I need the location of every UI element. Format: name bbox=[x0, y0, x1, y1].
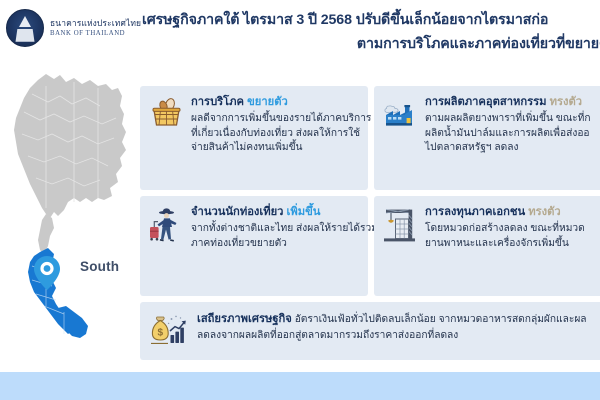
shopping-basket-icon bbox=[148, 95, 184, 182]
card-investment-line-2: ยานพาหนะและเครื่องจักรเพิ่มขึ้น bbox=[425, 237, 598, 252]
bank-of-thailand-logo: ธนาคารแห่งประเทศไทย BANK OF THAILAND bbox=[6, 9, 141, 47]
map-region-north-central bbox=[14, 74, 126, 218]
card-consumption-heading-main: การบริโภค bbox=[191, 96, 244, 108]
card-economic-stability[interactable]: $ เสถียรภาพเศรษฐกิจ bbox=[140, 302, 600, 360]
card-investment[interactable]: การลงทุนภาคเอกชน ทรงตัว โดยหมวดก่อสร้างล… bbox=[374, 196, 600, 296]
card-investment-heading-highlight: ทรงตัว bbox=[528, 206, 560, 218]
card-industry-heading: การผลิตภาคอุตสาหกรรม ทรงตัว bbox=[425, 95, 598, 110]
card-economic-stability-heading: เสถียรภาพเศรษฐกิจ bbox=[197, 313, 292, 325]
card-economic-stability-line-1-text: อัตราเงินเฟ้อทั่วไปติดลบเล็กน้อย จากหมวด… bbox=[295, 314, 587, 325]
factory-icon bbox=[382, 95, 418, 182]
card-tourism-heading-highlight: เพิ่มขึ้น bbox=[287, 206, 321, 218]
card-industry-line-2: ผลิตน้ำมันปาล์มและการผลิตเพื่อส่งออ bbox=[425, 127, 598, 142]
map-region-label: South bbox=[80, 259, 119, 274]
card-tourism-body: จำนวนนักท่องเที่ยว เพิ่มขึ้น จากทั้งต่าง… bbox=[191, 205, 360, 288]
card-consumption-line-1: ผลดีจากการเพิ่มขึ้นของรายได้ภาคบริการ bbox=[191, 112, 360, 127]
card-tourism-heading-main: จำนวนนักท่องเที่ยว bbox=[191, 206, 283, 218]
card-consumption-line-2: ที่เกี่ยวเนื่องกับท่องเที่ยว ส่งผลให้การ… bbox=[191, 127, 360, 142]
card-investment-heading: การลงทุนภาคเอกชน ทรงตัว bbox=[425, 205, 598, 220]
card-economic-stability-body: เสถียรภาพเศรษฐกิจ อัตราเงินเฟ้อทั่วไปติด… bbox=[197, 312, 598, 350]
traveler-with-luggage-icon bbox=[148, 205, 184, 288]
logo-text-group: ธนาคารแห่งประเทศไทย BANK OF THAILAND bbox=[50, 18, 141, 39]
card-tourism-line-1: จากทั้งต่างชาติและไทย ส่งผลให้รายได้รวม bbox=[191, 222, 360, 237]
card-industry-heading-main: การผลิตภาคอุตสาหกรรม bbox=[425, 96, 547, 108]
card-industry-heading-highlight: ทรงตัว bbox=[550, 96, 582, 108]
infographic-slide: ธนาคารแห่งประเทศไทย BANK OF THAILAND เศร… bbox=[0, 0, 600, 400]
thailand-map-svg bbox=[2, 68, 138, 364]
card-industry-body: การผลิตภาคอุตสาหกรรม ทรงตัว ตามผลผลิตยาง… bbox=[425, 95, 598, 182]
card-investment-body: การลงทุนภาคเอกชน ทรงตัว โดยหมวดก่อสร้างล… bbox=[425, 205, 598, 288]
svg-text:$: $ bbox=[158, 327, 164, 338]
logo-name-thai: ธนาคารแห่งประเทศไทย bbox=[50, 18, 141, 29]
page-title-line-1: เศรษฐกิจภาคใต้ ไตรมาส 3 ปี 2568 ปรับดีขึ… bbox=[142, 8, 600, 32]
card-investment-heading-main: การลงทุนภาคเอกชน bbox=[425, 206, 525, 218]
header: ธนาคารแห่งประเทศไทย BANK OF THAILAND เศร… bbox=[0, 0, 600, 72]
card-tourism-heading: จำนวนนักท่องเที่ยว เพิ่มขึ้น bbox=[191, 205, 360, 220]
card-economic-stability-line-1: เสถียรภาพเศรษฐกิจ อัตราเงินเฟ้อทั่วไปติด… bbox=[197, 312, 598, 328]
card-industry-line-3: ไปตลาดสหรัฐฯ ลดลง bbox=[425, 141, 598, 156]
map-region-south-lower bbox=[56, 306, 88, 338]
card-consumption-body: การบริโภค ขยายตัว ผลดีจากการเพิ่มขึ้นของ… bbox=[191, 95, 360, 182]
card-industry-line-1: ตามผลผลิตยางพาราที่เพิ่มขึ้น ขณะที่ก bbox=[425, 112, 598, 127]
money-bag-growth-chart-icon: $ bbox=[148, 312, 190, 350]
logo-name-english: BANK OF THAILAND bbox=[50, 29, 141, 39]
card-industry[interactable]: การผลิตภาคอุตสาหกรรม ทรงตัว ตามผลผลิตยาง… bbox=[374, 86, 600, 190]
page-title: เศรษฐกิจภาคใต้ ไตรมาส 3 ปี 2568 ปรับดีขึ… bbox=[140, 8, 600, 56]
thailand-map-panel: South bbox=[0, 66, 140, 366]
construction-crane-icon bbox=[382, 205, 418, 288]
card-consumption-heading: การบริโภค ขยายตัว bbox=[191, 95, 360, 110]
card-consumption-heading-highlight: ขยายตัว bbox=[247, 96, 288, 108]
card-consumption[interactable]: การบริโภค ขยายตัว ผลดีจากการเพิ่มขึ้นของ… bbox=[140, 86, 368, 190]
card-tourism[interactable]: จำนวนนักท่องเที่ยว เพิ่มขึ้น จากทั้งต่าง… bbox=[140, 196, 368, 296]
bank-of-thailand-seal-icon bbox=[6, 9, 44, 47]
card-tourism-line-2: ภาคท่องเที่ยวขยายตัว bbox=[191, 237, 360, 252]
card-investment-line-1: โดยหมวดก่อสร้างลดลง ขณะที่หมวด bbox=[425, 222, 598, 237]
page-title-line-2: ตามการบริโภคและภาคท่องเที่ยวที่ขยายตัว bbox=[140, 32, 600, 56]
footer-bar bbox=[0, 372, 600, 400]
map-region-upper-peninsula bbox=[38, 214, 54, 254]
card-consumption-line-3: จ่ายสินค้าไม่คงทนเพิ่มขึ้น bbox=[191, 141, 360, 156]
card-economic-stability-line-2: ลดลงจากผลผลิตที่ออกสู่ตลาดมากรวมถึงราคาส… bbox=[197, 328, 598, 344]
